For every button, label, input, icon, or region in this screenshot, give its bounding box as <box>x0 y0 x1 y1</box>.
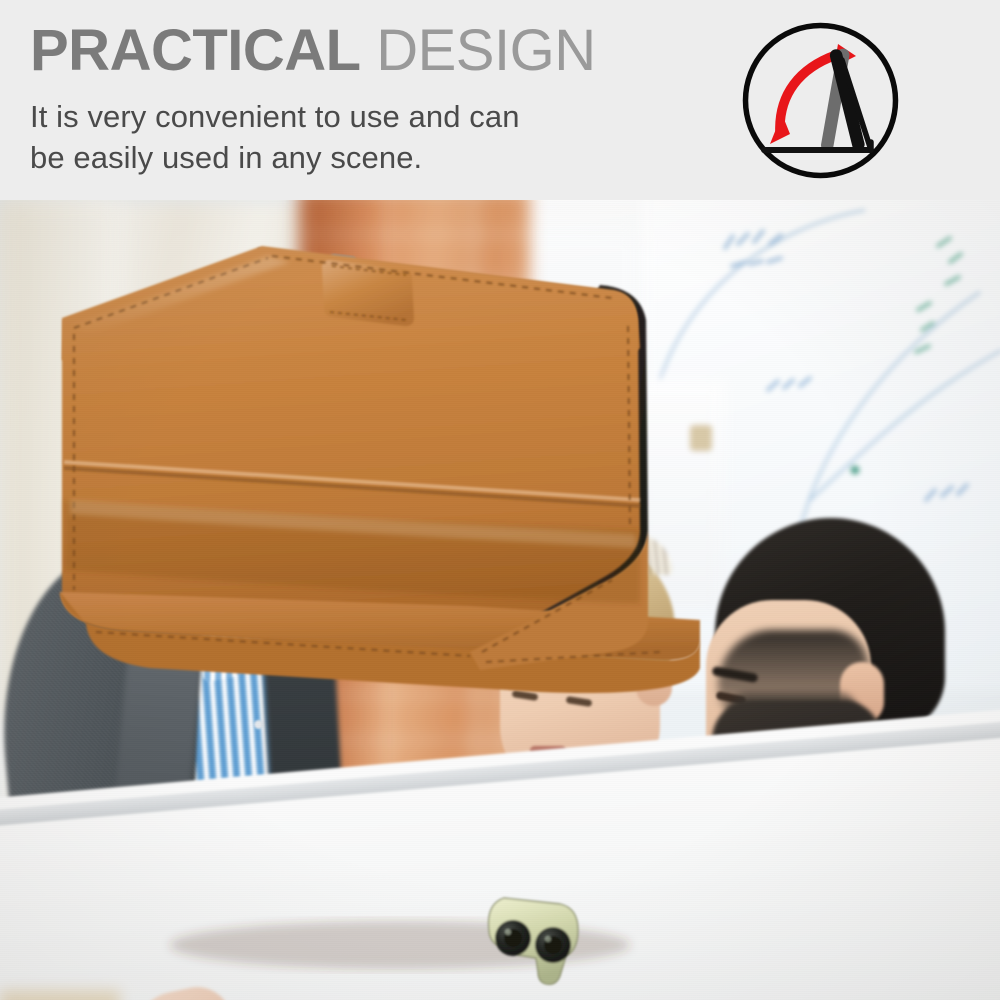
page-subtitle: It is very convenient to use and can be … <box>30 96 690 178</box>
case-magnet-strap <box>322 260 414 326</box>
page-title-primary: PRACTICAL <box>30 18 361 83</box>
header-band: PRACTICAL DESIGN It is very convenient t… <box>0 0 1000 200</box>
adjustable-stand-angle-icon <box>742 22 899 179</box>
page-subtitle-line-1: It is very convenient to use and can <box>30 96 690 137</box>
leather-wallet-phone-case-stand <box>0 200 1000 1000</box>
phone-camera-module <box>489 898 578 984</box>
product-feature-page: PRACTICAL DESIGN It is very convenient t… <box>0 0 1000 1000</box>
lifestyle-photo <box>0 200 1000 1000</box>
page-subtitle-line-2: be easily used in any scene. <box>30 137 690 178</box>
header-text-block: PRACTICAL DESIGN It is very convenient t… <box>30 20 690 178</box>
page-title: PRACTICAL DESIGN <box>30 20 690 82</box>
page-title-secondary: DESIGN <box>361 18 596 83</box>
